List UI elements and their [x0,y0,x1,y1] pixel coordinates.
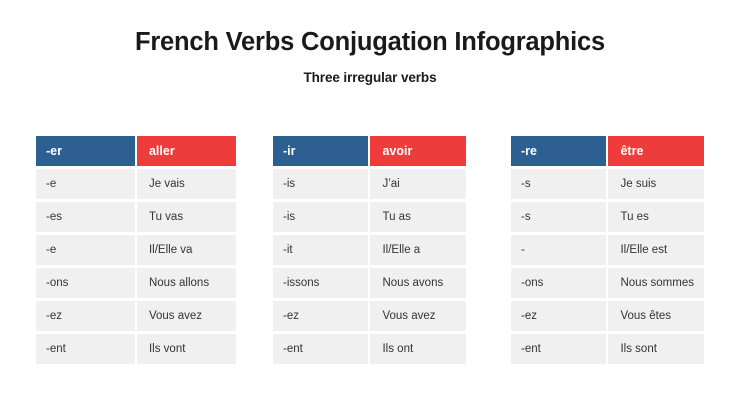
verb-table-avoir: -ir avoir -is J’ai -is Tu as -it Il/Elle… [273,136,466,351]
form-cell: Il/Elle est [608,235,704,265]
form-cell: Nous allons [137,268,236,298]
ending-cell: -e [36,169,135,199]
table-row: -is Tu as [273,202,466,232]
form-cell: Ils ont [370,334,466,364]
slide-canvas: French Verbs Conjugation Infographics Th… [0,0,740,416]
ending-cell: -ez [36,301,135,331]
ending-cell: -es [36,202,135,232]
verb-header-cell: avoir [370,136,466,166]
ending-cell: -s [511,202,606,232]
conjugation-tables: -er aller -e Je vais -es Tu vas -e Il/El… [0,136,740,351]
table-row: -ez Vous êtes [511,301,704,331]
table-row: -issons Nous avons [273,268,466,298]
ending-cell: -it [273,235,368,265]
ending-header-cell: -er [36,136,135,166]
ending-cell: -ons [511,268,606,298]
form-cell: Il/Elle a [370,235,466,265]
table-row: -ez Vous avez [273,301,466,331]
ending-cell: -ez [273,301,368,331]
ending-cell: -ent [273,334,368,364]
table-header-row: -er aller [36,136,236,166]
form-cell: Vous êtes [608,301,704,331]
form-cell: Je suis [608,169,704,199]
table-header-row: -re être [511,136,704,166]
table-row: -ent Ils vont [36,334,236,364]
table-row: -s Tu es [511,202,704,232]
page-subtitle: Three irregular verbs [0,56,740,85]
ending-cell: -ent [36,334,135,364]
table-row: -s Je suis [511,169,704,199]
table-row: -ent Ils ont [273,334,466,364]
heading-block: French Verbs Conjugation Infographics Th… [0,28,740,85]
table-row: -e Je vais [36,169,236,199]
form-cell: Je vais [137,169,236,199]
table-row: -ons Nous allons [36,268,236,298]
ending-header-cell: -re [511,136,606,166]
table-row: -ons Nous sommes [511,268,704,298]
form-cell: Nous avons [370,268,466,298]
ending-cell: -is [273,169,368,199]
table-row: -is J’ai [273,169,466,199]
table-row: -e Il/Elle va [36,235,236,265]
form-cell: Tu es [608,202,704,232]
ending-cell: -issons [273,268,368,298]
verb-table-aller: -er aller -e Je vais -es Tu vas -e Il/El… [36,136,236,351]
verb-table-etre: -re être -s Je suis -s Tu es - Il/Elle e… [511,136,704,351]
form-cell: Vous avez [370,301,466,331]
form-cell: Vous avez [137,301,236,331]
form-cell: J’ai [370,169,466,199]
page-title: French Verbs Conjugation Infographics [0,28,740,56]
ending-cell: -s [511,169,606,199]
ending-cell: -ez [511,301,606,331]
ending-header-cell: -ir [273,136,368,166]
verb-header-cell: aller [137,136,236,166]
form-cell: Tu as [370,202,466,232]
ending-cell: -is [273,202,368,232]
form-cell: Nous sommes [608,268,704,298]
ending-cell: - [511,235,606,265]
table-row: -ez Vous avez [36,301,236,331]
verb-header-cell: être [608,136,704,166]
ending-cell: -ons [36,268,135,298]
ending-cell: -ent [511,334,606,364]
form-cell: Ils sont [608,334,704,364]
table-row: -ent Ils sont [511,334,704,364]
form-cell: Tu vas [137,202,236,232]
table-row: - Il/Elle est [511,235,704,265]
form-cell: Il/Elle va [137,235,236,265]
ending-cell: -e [36,235,135,265]
table-header-row: -ir avoir [273,136,466,166]
form-cell: Ils vont [137,334,236,364]
table-row: -it Il/Elle a [273,235,466,265]
table-row: -es Tu vas [36,202,236,232]
